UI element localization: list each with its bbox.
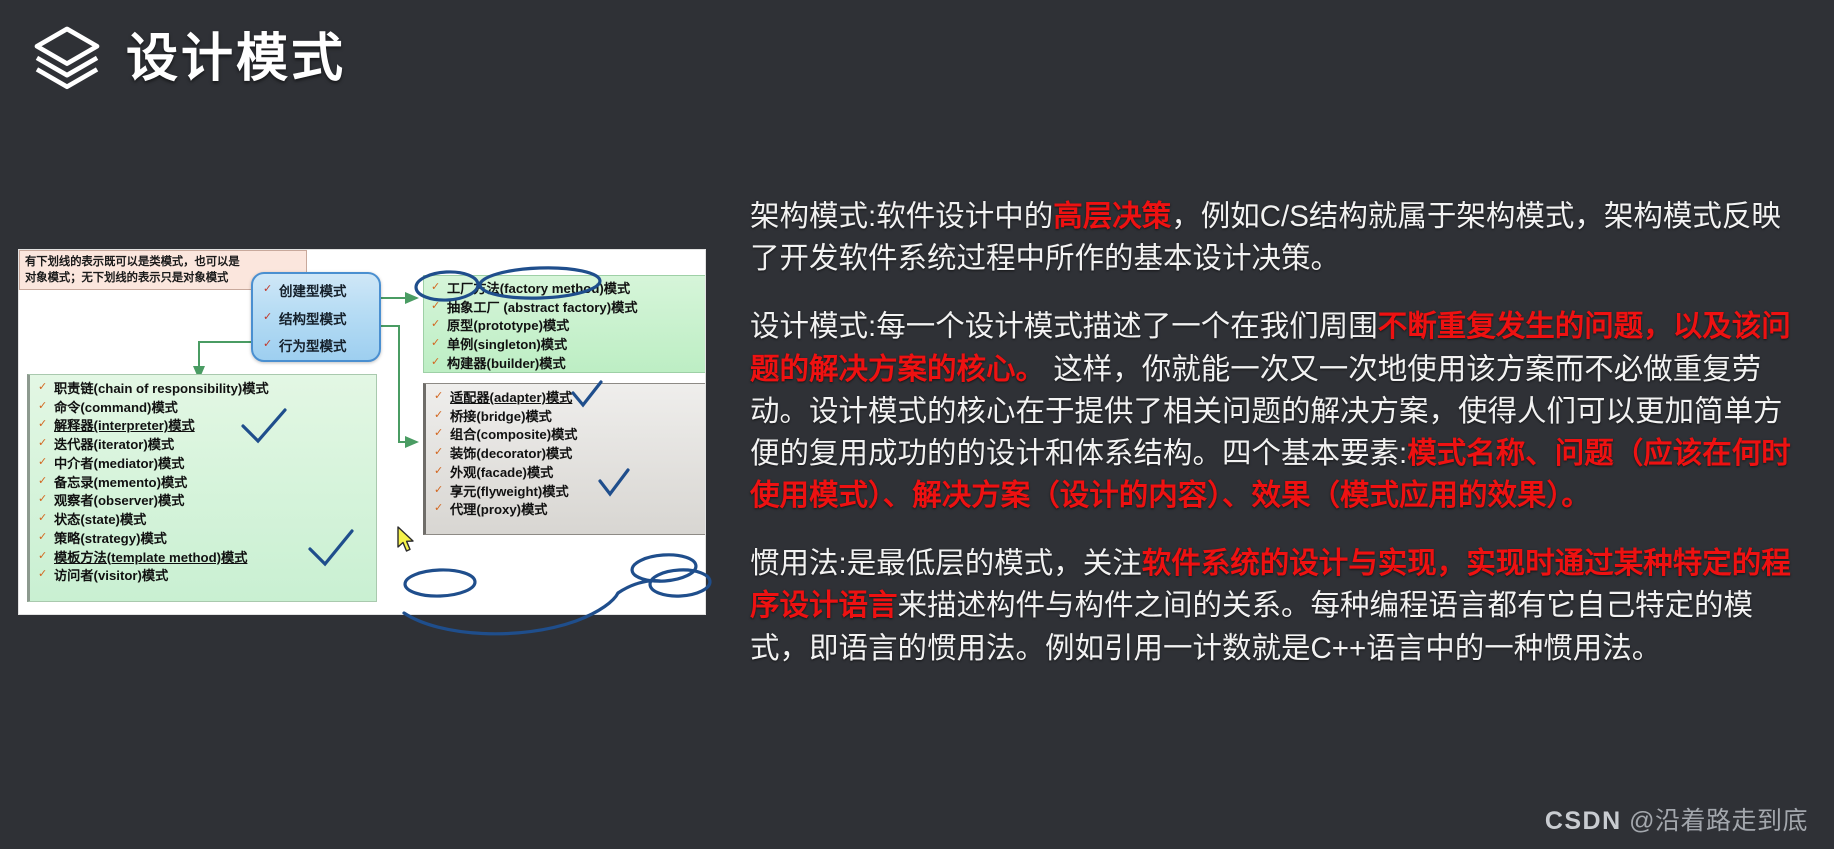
behavioral-item: 中介者(mediator)模式	[37, 455, 376, 474]
creational-item: 原型(prototype)模式	[430, 317, 706, 336]
structural-item: 外观(facade)模式	[433, 464, 706, 483]
behavioral-item: 解释器(interpreter)模式	[37, 417, 376, 436]
behavioral-item: 职责链(chain of responsibility)模式	[37, 380, 376, 399]
watermark-author: @沿着路走到底	[1629, 807, 1808, 835]
creational-item: 构建器(builder)模式	[430, 355, 706, 374]
slide-root: 设计模式 创建型模式 结构型模式 行为型模式	[0, 0, 1834, 849]
behavioral-item: 策略(strategy)模式	[37, 530, 376, 549]
explanation-text-panel: 架构模式:软件设计中的高层决策，例如C/S结构就属于架构模式，架构模式反映了开发…	[750, 196, 1810, 670]
behavioral-item: 模板方法(template method)模式	[37, 549, 376, 568]
body-text: 架构模式:软件设计中的	[750, 200, 1053, 233]
structural-item: 桥接(bridge)模式	[433, 408, 706, 427]
behavioral-item: 访问者(visitor)模式	[37, 567, 376, 586]
behavioral-item: 状态(state)模式	[37, 511, 376, 530]
behavioral-item: 备忘录(memento)模式	[37, 474, 376, 493]
layers-icon	[30, 22, 104, 96]
highlighted-text: 高层决策	[1053, 200, 1171, 233]
creational-item: 单例(singleton)模式	[430, 336, 706, 355]
structural-item: 组合(composite)模式	[433, 426, 706, 445]
paragraph-idiom: 惯用法:是最低层的模式，关注软件系统的设计与实现，实现时通过某种特定的程序设计语…	[750, 543, 1810, 670]
behavioral-item: 迭代器(iterator)模式	[37, 436, 376, 455]
mouse-cursor	[396, 526, 416, 554]
structural-item: 代理(proxy)模式	[433, 501, 706, 520]
behavioral-item: 观察者(observer)模式	[37, 492, 376, 511]
body-text: 惯用法:是最低层的模式，关注	[750, 547, 1142, 580]
behavioral-patterns-box: 职责链(chain of responsibility)模式 命令(comman…	[27, 374, 377, 602]
category-item: 创建型模式	[262, 282, 379, 301]
structural-item: 适配器(adapter)模式	[433, 389, 706, 408]
creational-item: 工厂方法(factory method)模式	[430, 280, 706, 299]
category-item: 结构型模式	[262, 310, 379, 329]
paragraph-architecture-pattern: 架构模式:软件设计中的高层决策，例如C/S结构就属于架构模式，架构模式反映了开发…	[750, 196, 1810, 280]
page-title: 设计模式	[126, 33, 346, 85]
behavioral-item: 命令(command)模式	[37, 399, 376, 418]
watermark: CSDN @沿着路走到底	[1545, 801, 1808, 837]
creational-item: 抽象工厂 (abstract factory)模式	[430, 299, 706, 318]
body-text: 来描述构件与构件之间的关系。每种编程语言都有它自己特定的模式，即语言的惯用法。例…	[750, 589, 1753, 664]
structural-patterns-box: 适配器(adapter)模式 桥接(bridge)模式 组合(composite…	[423, 383, 706, 535]
slide-header: 设计模式	[30, 22, 346, 96]
paragraph-design-pattern: 设计模式:每一个设计模式描述了一个在我们周围不断重复发生的问题，以及该问题的解决…	[750, 306, 1810, 517]
watermark-brand: CSDN	[1545, 807, 1622, 835]
category-item: 行为型模式	[262, 337, 379, 356]
design-pattern-diagram: 创建型模式 结构型模式 行为型模式 工厂方法(factory method)模式…	[18, 249, 706, 615]
structural-item: 装饰(decorator)模式	[433, 445, 706, 464]
creational-patterns-box: 工厂方法(factory method)模式 抽象工厂 (abstract fa…	[423, 275, 706, 373]
pattern-category-box: 创建型模式 结构型模式 行为型模式	[251, 272, 381, 362]
body-text: 设计模式:每一个设计模式描述了一个在我们周围	[750, 310, 1378, 343]
structural-item: 享元(flyweight)模式	[433, 483, 706, 502]
